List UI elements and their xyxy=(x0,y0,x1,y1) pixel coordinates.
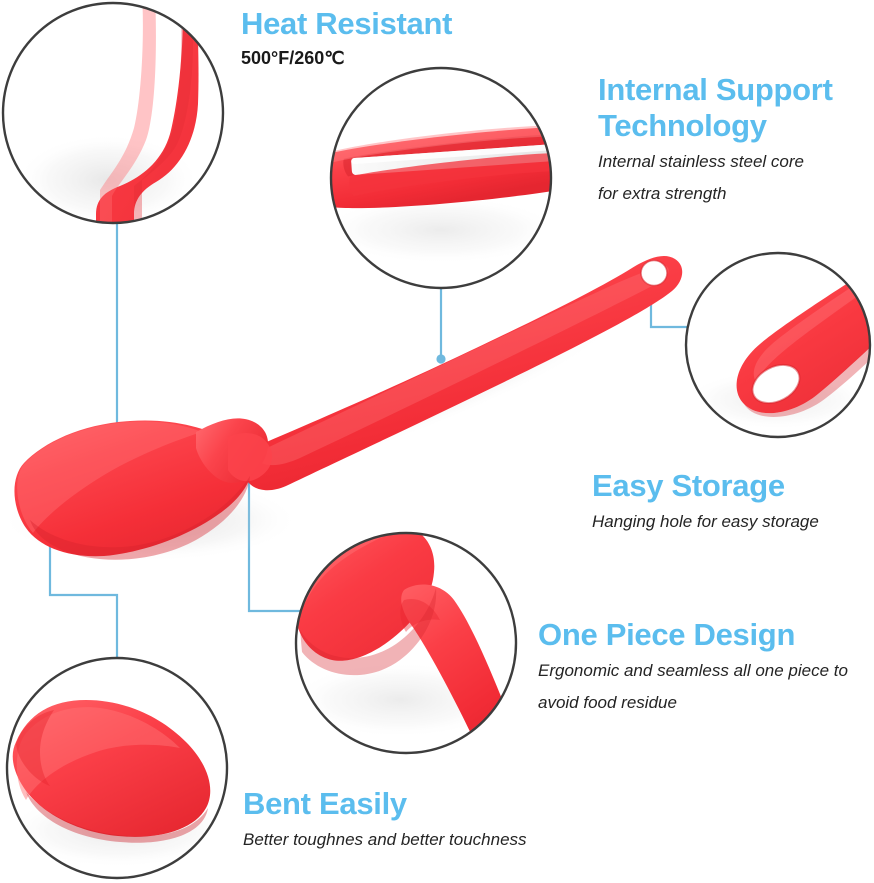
main-spatula-product xyxy=(0,256,682,562)
feature-bent-easily: Bent Easily Better toughnes and better t… xyxy=(243,786,527,856)
callout-spatula-head-closeup xyxy=(3,0,223,300)
one-piece-design-desc-line1: Ergonomic and seamless all one piece to xyxy=(538,655,848,687)
product-infographic: Heat Resistant 500°F/260℃ Internal Suppo… xyxy=(0,0,874,883)
internal-support-desc-line1: Internal stainless steel core xyxy=(598,146,833,178)
one-piece-design-title: One Piece Design xyxy=(538,617,848,653)
callout-handle-steel-core-closeup xyxy=(314,68,583,288)
easy-storage-desc-line1: Hanging hole for easy storage xyxy=(592,506,819,538)
feature-heat-resistant: Heat Resistant 500°F/260℃ xyxy=(241,6,452,70)
bent-easily-desc-line1: Better toughnes and better touchness xyxy=(243,824,527,856)
callout-hanging-hole-closeup xyxy=(683,250,874,437)
internal-support-title-line1: Internal Support xyxy=(598,72,833,108)
internal-support-title-line2: Technology xyxy=(598,108,833,144)
internal-support-desc-line2: for extra strength xyxy=(598,178,833,210)
heat-resistant-subtitle: 500°F/260℃ xyxy=(241,46,452,70)
feature-easy-storage: Easy Storage Hanging hole for easy stora… xyxy=(592,468,819,538)
bent-easily-title: Bent Easily xyxy=(243,786,527,822)
feature-one-piece-design: One Piece Design Ergonomic and seamless … xyxy=(538,617,848,719)
one-piece-design-desc-line2: avoid food residue xyxy=(538,687,848,719)
callout-bent-head-closeup xyxy=(5,658,235,878)
feature-internal-support: Internal Support Technology Internal sta… xyxy=(598,72,833,210)
callout-head-handle-joint-closeup xyxy=(290,519,519,771)
easy-storage-title: Easy Storage xyxy=(592,468,819,504)
dot-internal-support xyxy=(436,354,445,363)
heat-resistant-title: Heat Resistant xyxy=(241,6,452,42)
